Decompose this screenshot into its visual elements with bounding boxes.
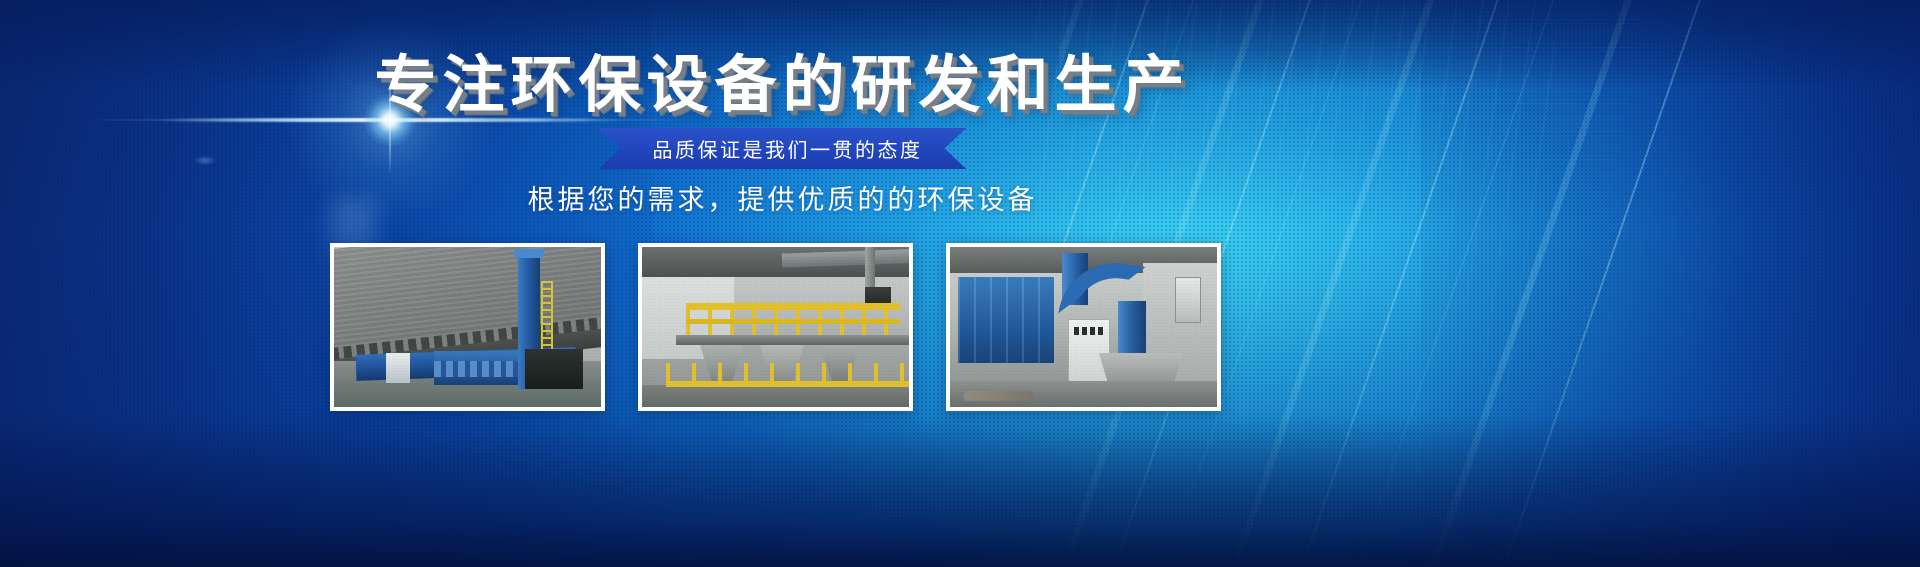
photo-blue-cyclone-ducting-unit[interactable] (946, 243, 1221, 411)
banner-content: 专注环保设备的研发和生产 品质保证是我们一贯的态度 根据您的需求，提供优质的的环… (0, 0, 1920, 567)
banner-subline: 根据您的需求，提供优质的的环保设备 (0, 178, 1565, 217)
photo-plant-interior-yellow-railings[interactable] (638, 243, 913, 411)
ribbon-wrapper: 品质保证是我们一贯的态度 (0, 128, 1565, 169)
banner-headline: 专注环保设备的研发和生产 (0, 53, 1565, 118)
photo-gallery (330, 243, 1221, 411)
photo-factory-exterior-dust-collector[interactable] (330, 243, 605, 411)
promo-banner: 专注环保设备的研发和生产 品质保证是我们一贯的态度 根据您的需求，提供优质的的环… (0, 0, 1920, 567)
tagline-ribbon: 品质保证是我们一贯的态度 (599, 128, 967, 169)
ribbon-label: 品质保证是我们一贯的态度 (653, 134, 923, 163)
